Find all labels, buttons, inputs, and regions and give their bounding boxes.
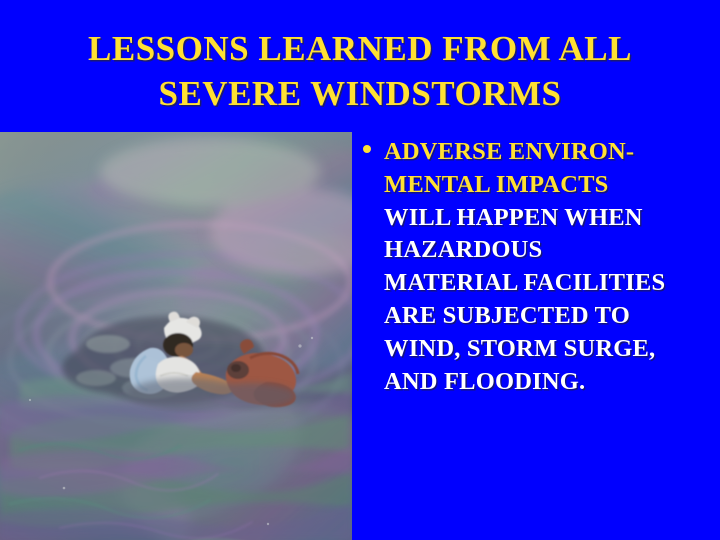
photo-artwork — [0, 132, 352, 540]
bullet-paragraph: ADVERSE ENVIRON- MENTAL IMPACTS WILL HAP… — [358, 136, 714, 398]
content-bullet-block: ADVERSE ENVIRON- MENTAL IMPACTS WILL HAP… — [358, 136, 714, 398]
bullet-segment-white: WILL HAPPEN WHEN HAZARDOUS MATERIAL FACI… — [384, 204, 665, 395]
presentation-slide: LESSONS LEARNED FROM ALL SEVERE WINDSTOR… — [0, 0, 720, 540]
flood-oil-spill-photo — [0, 132, 352, 540]
slide-title: LESSONS LEARNED FROM ALL SEVERE WINDSTOR… — [30, 26, 690, 116]
bullet-dot-icon — [363, 145, 371, 153]
bullet-segment-yellow: ADVERSE ENVIRON- MENTAL IMPACTS — [384, 138, 634, 198]
